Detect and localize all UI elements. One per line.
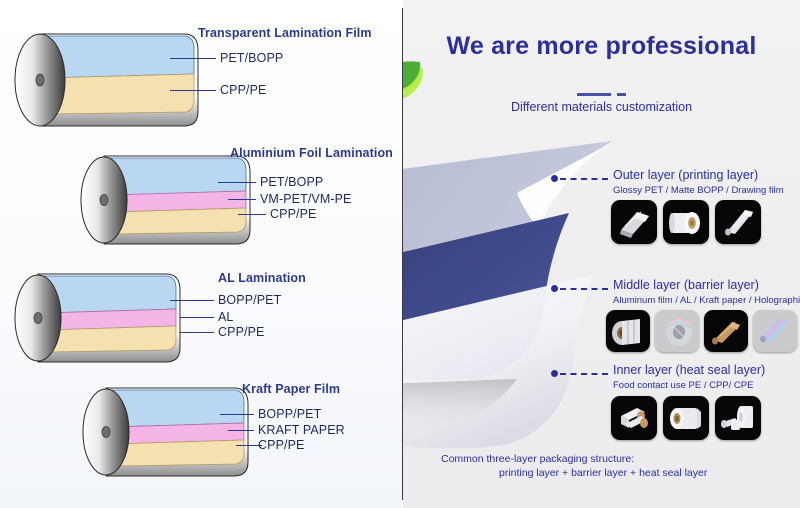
callout-subtitle: Glossy PET / Matte BOPP / Drawing film bbox=[613, 185, 784, 196]
thumbnail-pe-film-rolls[interactable] bbox=[611, 396, 657, 440]
leader-line-2-3 bbox=[238, 214, 266, 215]
thumbnail-glossy-pet-roll[interactable] bbox=[611, 200, 657, 244]
thumbnail-holographic-film-roll[interactable] bbox=[753, 310, 797, 352]
layer-label-3-3: CPP/PE bbox=[218, 325, 264, 339]
film-roll-diagram-3 bbox=[10, 268, 200, 373]
callout-bullet-icon bbox=[551, 175, 558, 182]
diagram-canvas: Transparent Lamination Film PET/BOPP CPP… bbox=[0, 0, 800, 508]
leader-line-2-2 bbox=[228, 199, 256, 200]
thumbnail-matte-bopp-roll[interactable] bbox=[663, 200, 709, 244]
thumbnail-row-outer bbox=[611, 200, 761, 244]
leader-line-3-3 bbox=[180, 332, 214, 333]
layer-label-2-3: CPP/PE bbox=[270, 207, 316, 221]
callout-bullet-icon bbox=[551, 285, 558, 292]
layer-label-1-2: CPP/PE bbox=[220, 83, 266, 97]
callout-title: Outer layer (printing layer) bbox=[613, 168, 758, 182]
callout-title: Inner layer (heat seal layer) bbox=[613, 363, 765, 377]
subheadline: Different materials customization bbox=[403, 100, 800, 114]
leader-line-1-2 bbox=[170, 90, 216, 91]
thumbnail-cpp-film-roll[interactable] bbox=[663, 396, 709, 440]
layer-label-3-1: BOPP/PET bbox=[218, 293, 281, 307]
footnote-line-1: Common three-layer packaging structure: bbox=[441, 453, 634, 465]
thumbnail-kraft-paper-roll[interactable] bbox=[704, 310, 748, 352]
callout-subtitle: Food contact use PE / CPP/ CPE bbox=[613, 380, 753, 391]
thumbnail-al-coil-roll[interactable] bbox=[655, 310, 699, 352]
thumbnail-row-middle bbox=[606, 310, 797, 352]
thumbnail-aluminum-film-roll[interactable] bbox=[606, 310, 650, 352]
leader-line-1-1 bbox=[170, 58, 216, 59]
callout-title: Middle layer (barrier layer) bbox=[613, 278, 759, 292]
film-roll-diagram-4 bbox=[76, 382, 271, 487]
callout-dashed-line bbox=[560, 178, 608, 180]
thumbnail-drawing-film-roll[interactable] bbox=[715, 200, 761, 244]
film-roll-diagram-1 bbox=[8, 26, 228, 134]
layer-label-2-2: VM-PET/VM-PE bbox=[260, 192, 351, 206]
layer-label-4-3: CPP/PE bbox=[258, 438, 304, 452]
film-title-1: Transparent Lamination Film bbox=[198, 26, 372, 40]
layer-label-3-2: AL bbox=[218, 310, 234, 324]
callout-bullet-icon bbox=[551, 370, 558, 377]
layer-label-4-2: KRAFT PAPER bbox=[258, 423, 345, 437]
layer-label-1-1: PET/BOPP bbox=[220, 51, 283, 65]
callout-dashed-line bbox=[560, 373, 608, 375]
film-title-2: Aluminium Foil Lamination bbox=[230, 146, 393, 160]
film-title-4: Kraft Paper Film bbox=[242, 382, 340, 396]
layer-label-2-1: PET/BOPP bbox=[260, 175, 323, 189]
film-title-3: AL Lamination bbox=[218, 271, 306, 285]
left-panel: Transparent Lamination Film PET/BOPP CPP… bbox=[0, 0, 402, 508]
headline: We are more professional bbox=[403, 32, 800, 61]
thumbnail-row-inner bbox=[611, 396, 761, 440]
film-roll-diagram-2 bbox=[74, 150, 274, 255]
thumbnail-cpe-film-rolls[interactable] bbox=[715, 396, 761, 440]
leader-line-3-1 bbox=[170, 300, 214, 301]
callout-dashed-line bbox=[560, 288, 608, 290]
callout-subtitle: Aluminum film / AL / Kraft paper / Holog… bbox=[613, 295, 800, 306]
leader-line-4-1 bbox=[220, 414, 254, 415]
leader-line-2-1 bbox=[218, 182, 256, 183]
footnote-line-2: printing layer + barrier layer + heat se… bbox=[441, 466, 791, 480]
leader-line-3-2 bbox=[180, 317, 214, 318]
footnote: Common three-layer packaging structure: … bbox=[441, 452, 791, 480]
right-panel: We are more professional Different mater… bbox=[403, 0, 800, 508]
layer-label-4-1: BOPP/PET bbox=[258, 407, 321, 421]
leader-line-4-2 bbox=[228, 430, 254, 431]
